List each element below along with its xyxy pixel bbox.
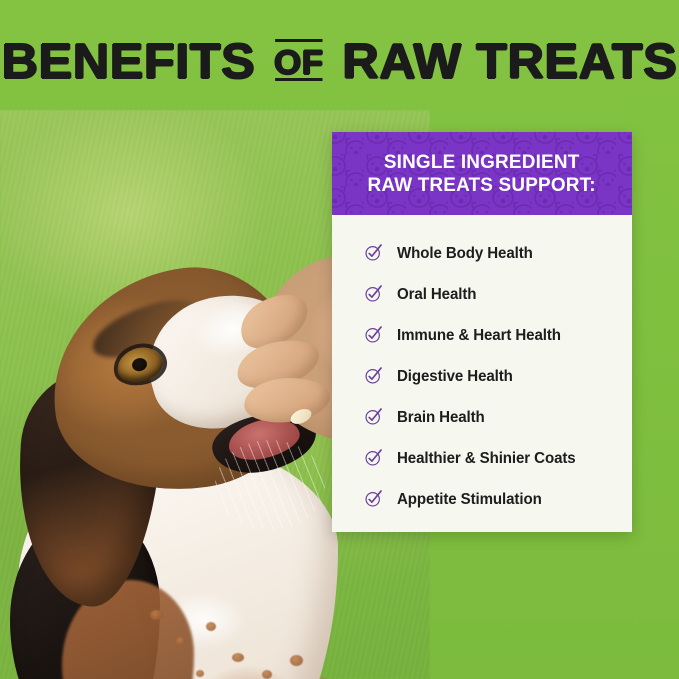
dog-spot: [206, 622, 216, 631]
list-item: Whole Body Health: [332, 233, 632, 274]
check-circle-icon: [364, 325, 383, 344]
dog-spot: [232, 653, 244, 662]
list-item: Healthier & Shinier Coats: [332, 438, 632, 479]
dog-spot: [196, 670, 204, 677]
check-circle-icon: [364, 489, 383, 508]
dog-spot: [176, 637, 185, 645]
benefits-poster: BENEFITS OF RAW TREATS: [0, 0, 679, 679]
list-item: Immune & Heart Health: [332, 315, 632, 356]
list-item: Appetite Stimulation: [332, 479, 632, 520]
page-title: BENEFITS OF RAW TREATS: [0, 34, 679, 95]
card-header-line-1: SINGLE INGREDIENT: [368, 151, 596, 174]
benefit-label: Appetite Stimulation: [397, 491, 542, 509]
dog-whiskers: [215, 440, 325, 530]
check-circle-icon: [364, 366, 383, 385]
headline-part-2: RAW TREATS: [342, 35, 677, 89]
benefits-list: Whole Body Health Oral Health Immune & H…: [332, 215, 632, 520]
card-header-text: SINGLE INGREDIENT RAW TREATS SUPPORT:: [368, 151, 596, 197]
benefits-card: SINGLE INGREDIENT RAW TREATS SUPPORT: Wh…: [332, 132, 632, 532]
card-header: SINGLE INGREDIENT RAW TREATS SUPPORT:: [332, 132, 632, 215]
check-circle-icon: [364, 243, 383, 262]
check-circle-icon: [364, 407, 383, 426]
dog-spot: [262, 670, 272, 679]
dog-spot: [150, 610, 163, 620]
list-item: Brain Health: [332, 397, 632, 438]
list-item: Oral Health: [332, 274, 632, 315]
headline-part-1: BENEFITS: [2, 35, 256, 89]
headline-of: OF: [270, 44, 328, 82]
list-item: Digestive Health: [332, 356, 632, 397]
check-circle-icon: [364, 284, 383, 303]
benefit-label: Brain Health: [397, 409, 485, 427]
benefit-label: Immune & Heart Health: [397, 327, 561, 345]
benefit-label: Whole Body Health: [397, 245, 533, 263]
benefit-label: Healthier & Shinier Coats: [397, 450, 576, 468]
check-circle-icon: [364, 448, 383, 467]
benefit-label: Oral Health: [397, 286, 476, 304]
benefit-label: Digestive Health: [397, 368, 513, 386]
card-header-line-2: RAW TREATS SUPPORT:: [368, 174, 596, 197]
dog-spot: [290, 655, 303, 666]
